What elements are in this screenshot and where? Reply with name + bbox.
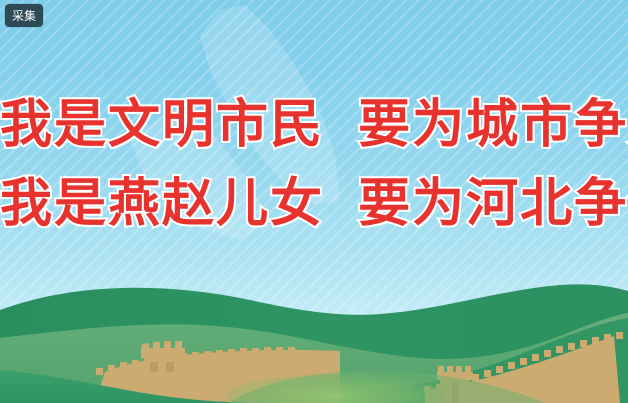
collect-button[interactable]: 采集 xyxy=(5,4,43,27)
collect-button-label: 采集 xyxy=(12,7,36,24)
banner-image: 我是文明市民 要为城市争光 我是燕赵儿女 要为河北争气 xyxy=(0,0,628,403)
hills-landscape xyxy=(0,0,628,403)
